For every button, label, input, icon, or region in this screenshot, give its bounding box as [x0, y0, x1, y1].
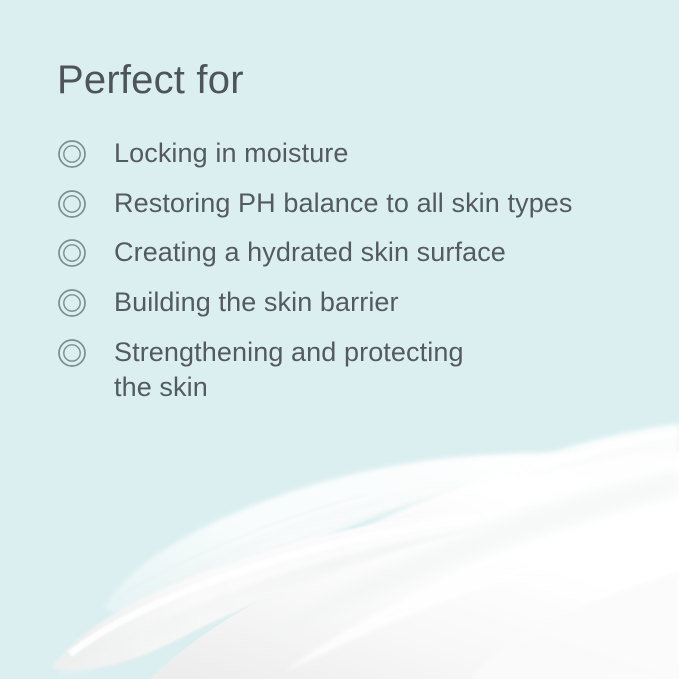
- double-circle-icon: [57, 189, 87, 219]
- list-item: Building the skin barrier: [57, 285, 657, 321]
- page-title: Perfect for: [57, 58, 657, 102]
- list-item: Creating a hydrated skin surface: [57, 235, 657, 271]
- list-item: Strengthening and protecting the skin: [57, 335, 657, 406]
- list-item-label: Building the skin barrier: [114, 285, 399, 321]
- list-item-label: Locking in moisture: [114, 136, 349, 172]
- list-item-label: Restoring PH balance to all skin types: [114, 186, 573, 222]
- double-circle-icon: [57, 338, 87, 368]
- benefits-list: Locking in moisture Restoring PH balance…: [57, 136, 657, 406]
- double-circle-icon: [57, 238, 87, 268]
- double-circle-icon: [57, 139, 87, 169]
- double-circle-icon: [57, 288, 87, 318]
- list-item: Restoring PH balance to all skin types: [57, 186, 657, 222]
- list-item-label: Strengthening and protecting the skin: [114, 335, 464, 406]
- product-benefits-card: Perfect for Locking in moisture: [0, 0, 679, 679]
- list-item-label: Creating a hydrated skin surface: [114, 235, 506, 271]
- content-block: Perfect for Locking in moisture: [57, 58, 657, 406]
- list-item: Locking in moisture: [57, 136, 657, 172]
